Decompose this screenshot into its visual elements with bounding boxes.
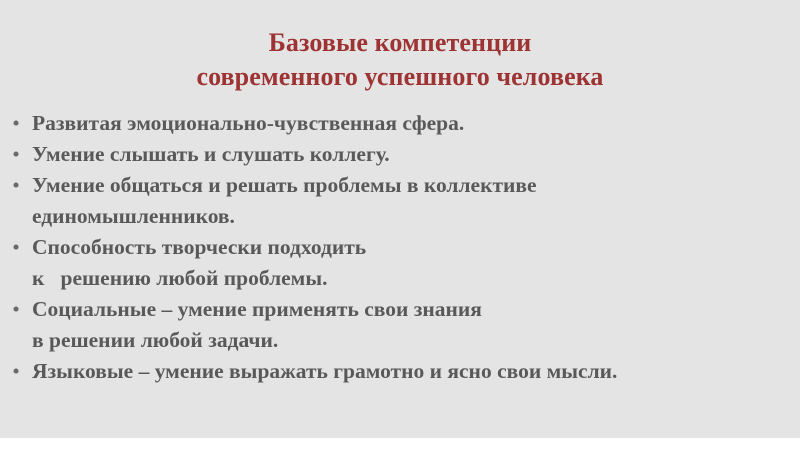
slide-canvas: Базовые компетенции современного успешно…: [0, 0, 800, 450]
bullet-dot-icon: •: [11, 232, 21, 263]
list-item-label: Социальные – умение применять свои знани…: [32, 294, 792, 325]
bullet-dot-icon: •: [11, 139, 21, 170]
list-item: • Социальные – умение применять свои зна…: [0, 294, 800, 356]
list-item-label-continued: к решению любой проблемы.: [32, 263, 792, 294]
bullet-dot-icon: •: [11, 108, 21, 139]
list-item: • Умение слышать и слушать коллегу.: [0, 139, 800, 170]
bullet-list: • Развитая эмоционально-чувственная сфер…: [0, 108, 800, 387]
list-item-label: Развитая эмоционально-чувственная сфера.: [32, 108, 792, 139]
list-item-label: Языковые – умение выражать грамотно и яс…: [32, 356, 792, 387]
list-item-label-continued: единомышленников.: [32, 201, 792, 232]
title-line-1: Базовые компетенции: [0, 26, 800, 60]
slide-title: Базовые компетенции современного успешно…: [0, 26, 800, 94]
list-item: • Развитая эмоционально-чувственная сфер…: [0, 108, 800, 139]
list-item: • Умение общаться и решать проблемы в ко…: [0, 170, 800, 232]
bottom-white-band: [0, 438, 800, 450]
title-line-2: современного успешного человека: [0, 60, 800, 94]
list-item-label: Способность творчески подходить: [32, 232, 792, 263]
list-item-label: Умение общаться и решать проблемы в колл…: [32, 170, 792, 201]
list-item: • Способность творчески подходить к реше…: [0, 232, 800, 294]
bullet-dot-icon: •: [11, 294, 21, 325]
bullet-dot-icon: •: [11, 170, 21, 201]
list-item-label: Умение слышать и слушать коллегу.: [32, 139, 792, 170]
list-item-label-continued: в решении любой задачи.: [32, 325, 792, 356]
list-item: • Языковые – умение выражать грамотно и …: [0, 356, 800, 387]
bullet-dot-icon: •: [11, 356, 21, 387]
